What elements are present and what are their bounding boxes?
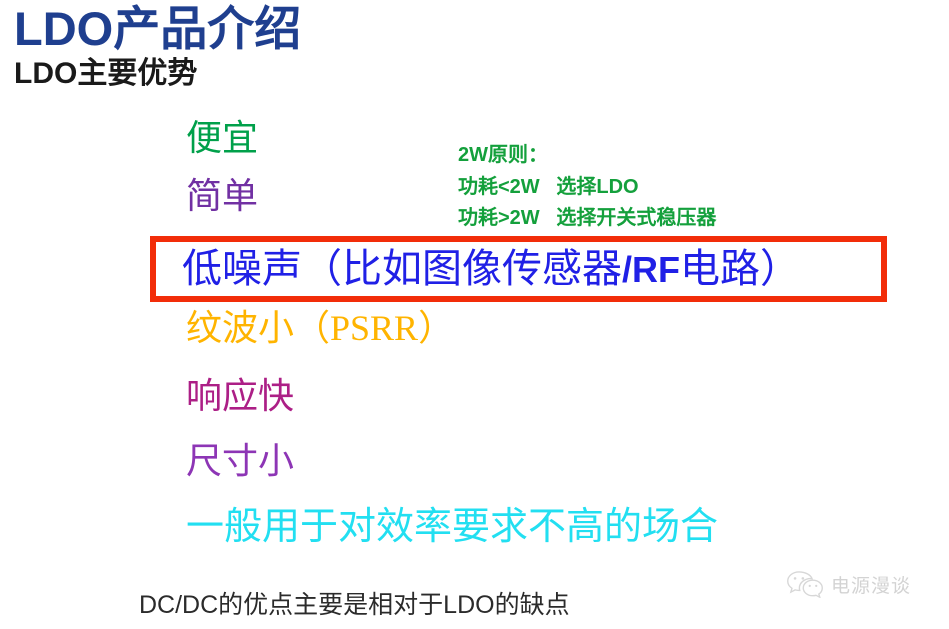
note-line-2: 功耗<2W 选择LDO bbox=[458, 172, 716, 204]
page-title: LDO产品介绍 bbox=[14, 4, 301, 53]
highlight-text: 低噪声（比如图像传感器/RF电路） bbox=[182, 240, 800, 298]
advantage-item-5: 响应快 bbox=[186, 378, 294, 414]
wechat-icon bbox=[786, 570, 824, 598]
highlight-text-latin: /RF bbox=[622, 249, 680, 290]
highlight-text-after: 电路） bbox=[680, 246, 800, 291]
advantage-item-2: 简单 bbox=[186, 178, 258, 214]
bottom-caption: DC/DC的优点主要是相对于LDO的缺点 bbox=[139, 585, 570, 621]
advantage-item-7: 一般用于对效率要求不高的场合 bbox=[186, 508, 718, 546]
advantage-item-6: 尺寸小 bbox=[186, 443, 294, 479]
advantage-item-4: 纹波小（PSRR） bbox=[186, 310, 454, 346]
slide-canvas: LDO产品介绍 LDO主要优势 便宜 简单 2W原则： 功耗<2W 选择LDO … bbox=[0, 0, 949, 629]
advantage-item-1: 便宜 bbox=[186, 120, 258, 156]
watermark-label: 电源漫谈 bbox=[831, 571, 911, 598]
page-subtitle: LDO主要优势 bbox=[14, 58, 197, 90]
note-line-1: 2W原则： bbox=[458, 140, 716, 172]
watermark: 电源漫谈 bbox=[786, 570, 911, 598]
note-line-3: 功耗>2W 选择开关式稳压器 bbox=[458, 203, 716, 235]
two-watt-rule-note: 2W原则： 功耗<2W 选择LDO 功耗>2W 选择开关式稳压器 bbox=[458, 140, 716, 235]
highlight-text-before: 低噪声（比如图像传感器 bbox=[182, 246, 622, 291]
